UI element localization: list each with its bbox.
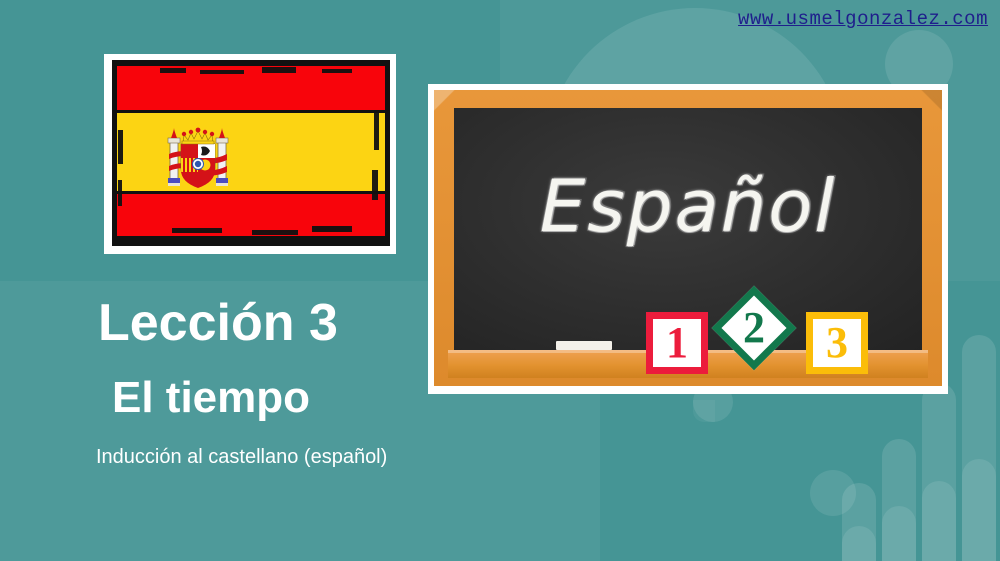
chalkboard-image: Español 1 2 3 [428, 84, 948, 394]
chalkboard-chalk-text: Español [454, 164, 922, 248]
decorative-bar-segment [922, 481, 956, 561]
number-block-3: 3 [806, 312, 868, 374]
number-block-1-label: 1 [666, 321, 688, 365]
decorative-circle-bottom [810, 470, 856, 516]
chalkboard-wooden-frame: Español 1 2 3 [434, 90, 942, 386]
decorative-bar-1 [962, 335, 996, 561]
flag-black-border [112, 60, 390, 246]
number-block-3-label: 3 [826, 321, 848, 365]
decorative-bar-2 [922, 383, 956, 561]
flag-stripe-yellow [117, 113, 385, 191]
site-url-link[interactable]: www.usmelgonzalez.com [738, 8, 988, 30]
page-title: Lección 3 [98, 293, 338, 353]
slide-canvas: www.usmelgonzalez.com [0, 0, 1000, 561]
decorative-bar-segment [842, 526, 876, 561]
decorative-circle-top-right-wedge [0, 300, 68, 368]
number-block-2-label: 2 [743, 306, 765, 350]
decorative-bar-segment [962, 459, 996, 561]
number-block-1: 1 [646, 312, 708, 374]
page-caption: Inducción al castellano (español) [96, 446, 387, 469]
decorative-bar-3 [882, 439, 916, 561]
spanish-flag-image [104, 54, 396, 254]
coat-of-arms-icon [167, 120, 229, 192]
page-subtitle: El tiempo [112, 373, 310, 423]
decorative-bar-4 [842, 483, 876, 561]
decorative-bar-segment [882, 506, 916, 561]
chalk-stick-icon [556, 341, 612, 350]
